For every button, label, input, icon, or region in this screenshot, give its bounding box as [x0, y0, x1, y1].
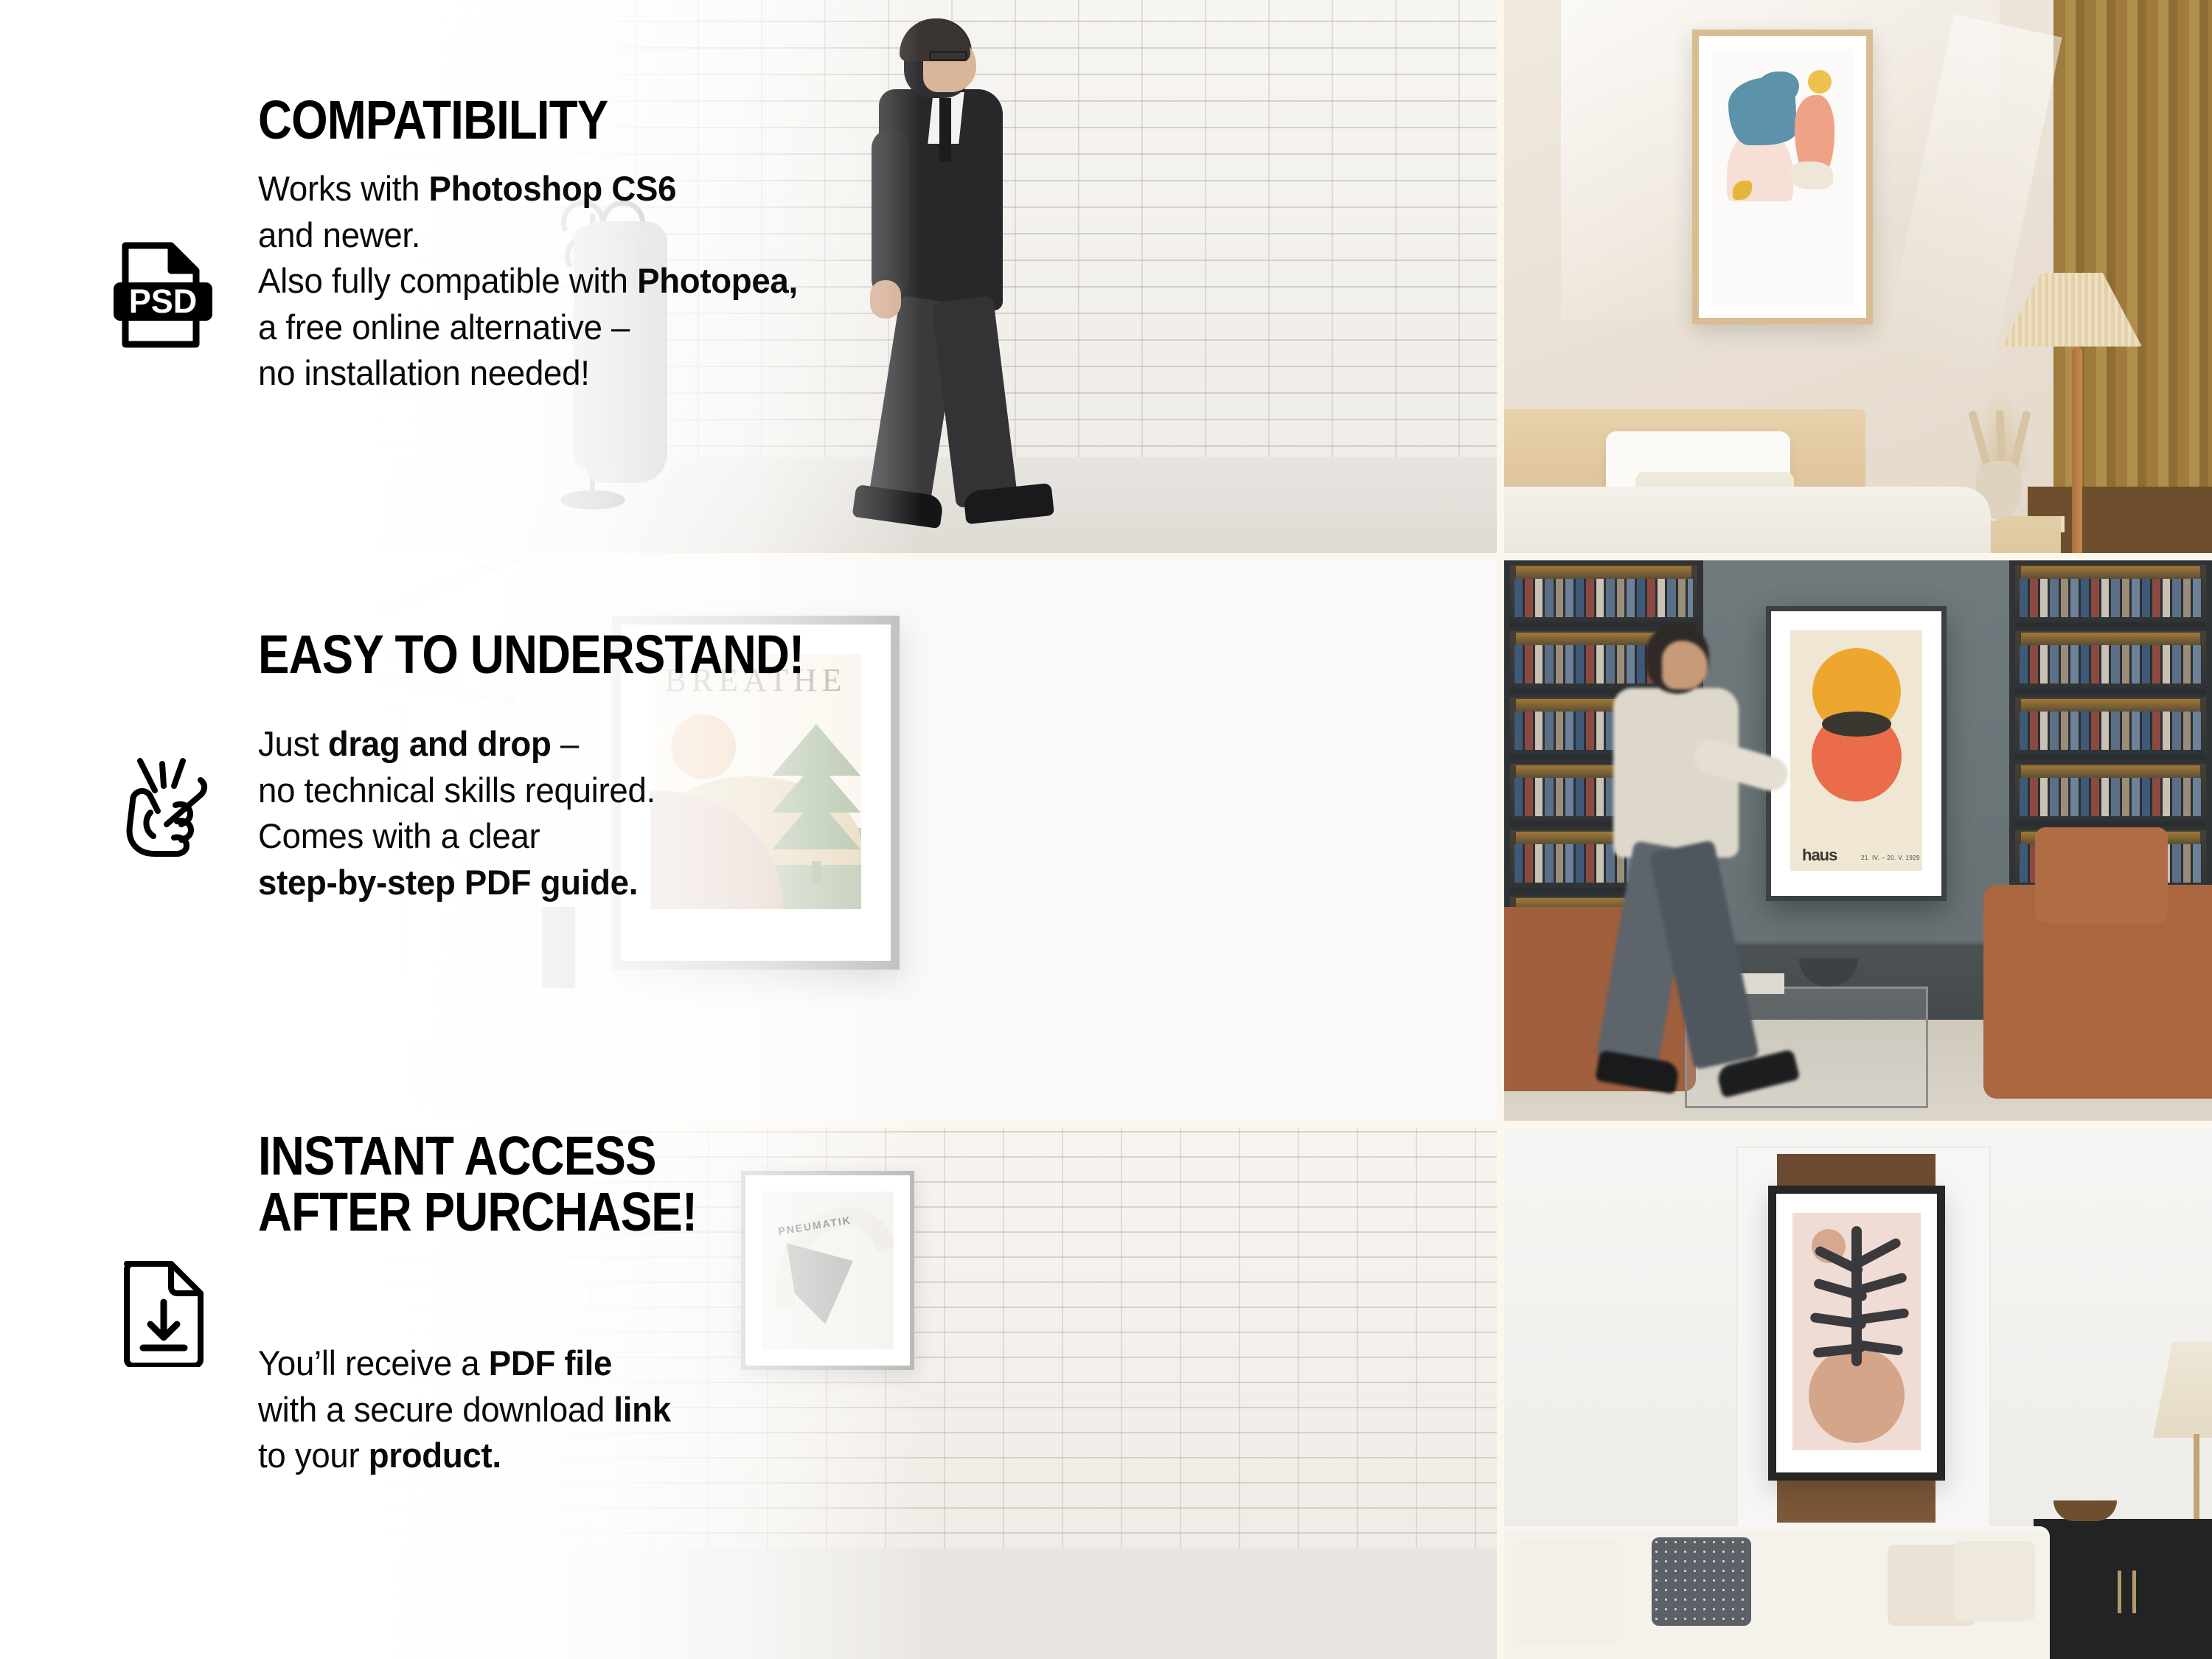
photo-sofa-living-room [1504, 1128, 2212, 1659]
body-compatibility: Works with Photoshop CS6and newer.Also f… [258, 166, 798, 397]
photo-bedroom [1504, 0, 2212, 560]
poster-leaf [1768, 1186, 1945, 1481]
feature-block-instant-access: INSTANT ACCESS AFTER PURCHASE! You’ll re… [0, 1128, 922, 1479]
poster-haus: haus 21. IV. – 20. V. 1929 [1766, 606, 1947, 901]
psd-file-icon: PSD [112, 240, 215, 350]
body-easy-to-understand: Just drag and drop –no technical skills … [258, 721, 655, 905]
finger-snap-icon [112, 748, 215, 858]
feature-block-compatibility: COMPATIBILITY PSD Works with Photoshop C… [0, 92, 922, 397]
poster-haus-date: 21. IV. – 20. V. 1929 [1861, 855, 1920, 861]
feature-block-easy-to-understand: EASY TO UNDERSTAND! [0, 627, 922, 905]
feature-list: COMPATIBILITY PSD Works with Photoshop C… [0, 0, 922, 1659]
svg-text:PSD: PSD [129, 282, 198, 320]
poster-haus-label: haus [1802, 846, 1837, 865]
headline-compatibility: COMPATIBILITY [258, 92, 829, 148]
poster-bedroom-abstract [1692, 29, 1873, 324]
headline-instant-access: INSTANT ACCESS AFTER PURCHASE! [258, 1128, 829, 1240]
file-download-icon [112, 1256, 215, 1367]
headline-easy-to-understand: EASY TO UNDERSTAND! [258, 627, 829, 683]
body-instant-access: You’ll receive a PDF filewith a secure d… [258, 1340, 671, 1479]
person-walking-library [1607, 623, 1777, 1128]
photo-library-lounge: haus 21. IV. – 20. V. 1929 [1504, 560, 2212, 1128]
